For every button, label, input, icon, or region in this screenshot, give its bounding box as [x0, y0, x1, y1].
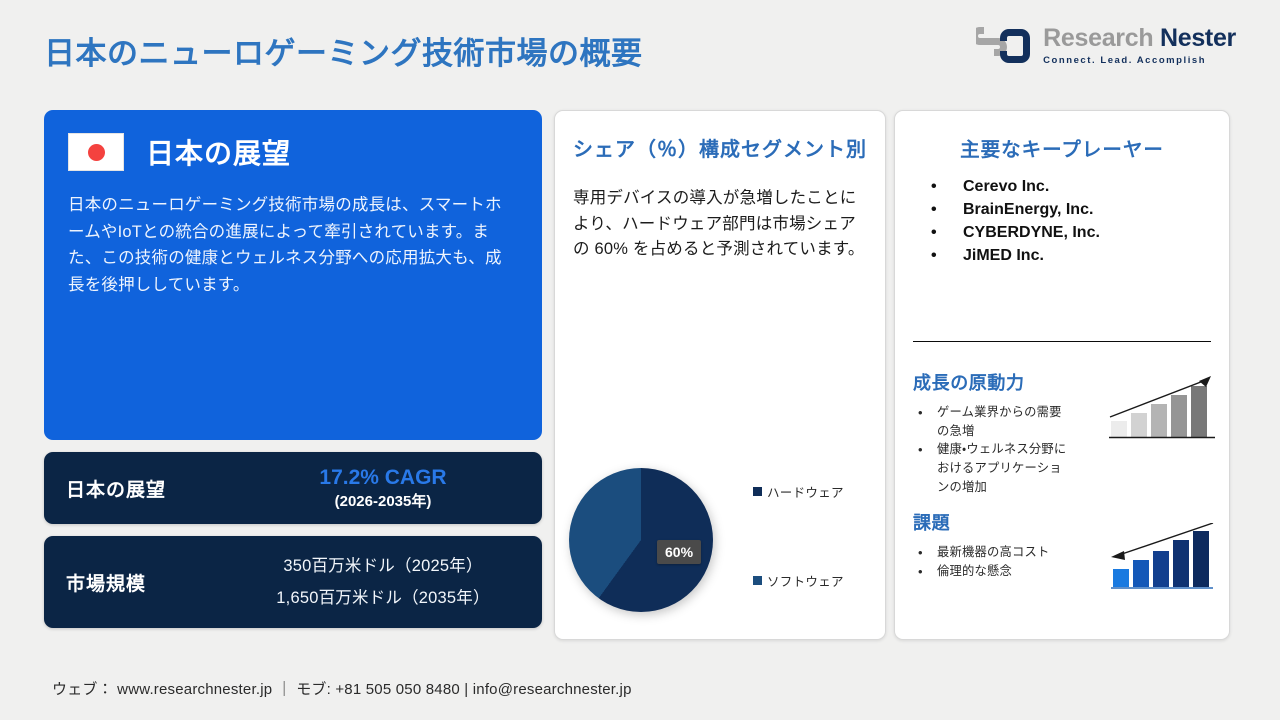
outlook-body-text: 日本のニューロゲーミング技術市場の成長は、スマートホームやIoTとの統合の進展に… [68, 192, 518, 299]
pie-data-label: 60% [657, 540, 701, 564]
outlook-title: 日本の展望 [146, 132, 291, 172]
list-item: ゲーム業界からの需要の急増 [913, 403, 1073, 440]
legend-item-software: ソフトウェア [753, 571, 844, 590]
key-players-title: 主要なキープレーヤー [913, 133, 1211, 162]
challenges-section: 課題 最新機器の高コスト 倫理的な懸念 [913, 509, 1215, 580]
pie-chart-area: 60% ハードウェア ソフトウェア [555, 466, 885, 626]
growth-drivers-section: 成長の原動力 ゲーム業界からの需要の急増 健康・ウェルネス分野におけるアプリケー… [913, 369, 1215, 496]
outlook-header: 日本の展望 [68, 132, 518, 172]
logo-word-nester: Nester [1160, 24, 1236, 52]
list-item: 最新機器の高コスト [913, 543, 1073, 562]
logo-text: Research Nester Connect. Lead. Accomplis… [1043, 26, 1236, 66]
stat-cagr-label: 日本の展望 [66, 475, 246, 502]
header: 日本のニューロゲーミング技術市場の概要 Research Nester Conn… [0, 0, 1280, 96]
research-nester-logo-icon [976, 25, 1034, 67]
growth-drivers-list: ゲーム業界からの需要の急増 健康・ウェルネス分野におけるアプリケーションの増加 [913, 403, 1073, 496]
list-item: CYBERDYNE, Inc. [913, 222, 1211, 245]
segment-share-card: シェア（％）構成セグメント別 専用デバイスの導入が急増したことにより、ハードウェ… [554, 110, 886, 640]
list-item: JiMED Inc. [913, 245, 1211, 268]
legend-swatch-software [753, 576, 762, 585]
pie-chart: 60% [569, 468, 713, 612]
legend-swatch-hardware [753, 487, 762, 496]
japan-flag-icon [68, 133, 124, 171]
stat-box-cagr: 日本の展望 17.2% CAGR (2026-2035年) [44, 452, 542, 524]
brand-logo: Research Nester Connect. Lead. Accomplis… [976, 25, 1236, 67]
list-item: BrainEnergy, Inc. [913, 199, 1211, 222]
key-players-list: Cerevo Inc. BrainEnergy, Inc. CYBERDYNE,… [913, 176, 1211, 268]
stat-box-market-size: 市場規模 350百万米ドル（2025年） 1,650百万米ドル（2035年） [44, 536, 542, 628]
left-column: 日本の展望 日本のニューロゲーミング技術市場の成長は、スマートホームやIoTとの… [44, 110, 542, 628]
flag-red-circle [88, 144, 105, 161]
logo-wordmark: Research Nester [1043, 26, 1236, 51]
japan-outlook-panel: 日本の展望 日本のニューロゲーミング技術市場の成長は、スマートホームやIoTとの… [44, 110, 542, 440]
section-divider [913, 341, 1211, 342]
challenges-list: 最新機器の高コスト 倫理的な懸念 [913, 543, 1073, 580]
legend-label-software: ソフトウェア [767, 571, 844, 590]
segment-share-title: シェア（％）構成セグメント別 [573, 137, 867, 164]
stat-size-2025: 350百万米ドル（2025年） [246, 555, 520, 577]
list-item: 倫理的な懸念 [913, 562, 1073, 581]
stat-size-2035: 1,650百万米ドル（2035年） [246, 587, 520, 609]
key-players-card: 主要なキープレーヤー Cerevo Inc. BrainEnergy, Inc.… [894, 110, 1230, 640]
segment-share-body: 専用デバイスの導入が急増したことにより、ハードウェア部門は市場シェアの 60% … [573, 186, 867, 263]
stat-size-label: 市場規模 [66, 569, 246, 596]
challenge-bar-chart-down-icon [1109, 523, 1215, 591]
key-players-inner: 主要なキープレーヤー Cerevo Inc. BrainEnergy, Inc.… [895, 111, 1229, 639]
logo-word-research: Research [1043, 24, 1153, 52]
stat-cagr-values: 17.2% CAGR (2026-2035年) [246, 464, 520, 513]
logo-tagline: Connect. Lead. Accomplish [1043, 56, 1236, 66]
list-item: 健康・ウェルネス分野におけるアプリケーションの増加 [913, 440, 1073, 496]
stat-cagr-period: (2026-2035年) [246, 492, 520, 512]
pie-legend: ハードウェア ソフトウェア [753, 466, 883, 616]
stat-size-values: 350百万米ドル（2025年） 1,650百万米ドル（2035年） [246, 555, 520, 609]
legend-item-hardware: ハードウェア [753, 482, 844, 501]
list-item: Cerevo Inc. [913, 176, 1211, 199]
footer-contact: ウェブ： www.researchnester.jp ｜ モブ: +81 505… [52, 678, 632, 699]
segment-share-inner: シェア（％）構成セグメント別 専用デバイスの導入が急増したことにより、ハードウェ… [555, 111, 885, 639]
growth-bar-chart-up-icon [1109, 373, 1215, 441]
stat-cagr-value: 17.2% CAGR [246, 464, 520, 492]
legend-label-hardware: ハードウェア [767, 482, 844, 501]
page-title: 日本のニューロゲーミング技術市場の概要 [44, 28, 643, 73]
